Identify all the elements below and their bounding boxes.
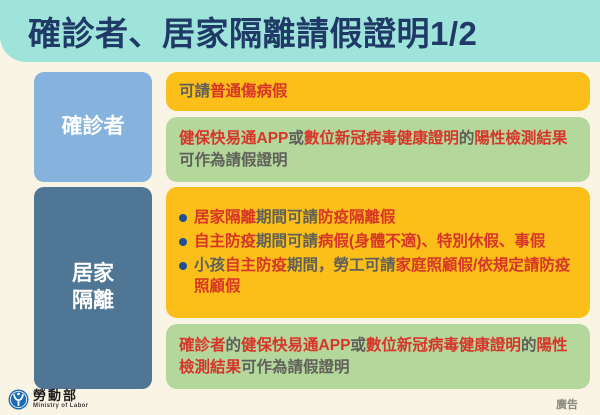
text-segment: 的: [226, 337, 242, 354]
card-line: 健保快易通APP或數位新冠病毒健康證明的陽性檢測結果可作為請假證明: [179, 128, 577, 172]
card-confirmed-sick-leave: 可請普通傷病假: [166, 72, 590, 111]
text-segment: 可作為請假證明: [179, 152, 288, 169]
list-item: 小孩自主防疫期間，勞工可請家庭照顧假/依規定請防疫照顧假: [179, 255, 577, 298]
bullet-dot-icon: [179, 262, 187, 270]
card-quarantine-proof: 確診者的健保快易通APP或數位新冠病毒健康證明的陽性檢測結果可作為請假證明: [166, 324, 590, 389]
list-item-text: 居家隔離期間可請防疫隔離假: [194, 207, 577, 229]
text-segment-emphasis: 防疫隔離假: [318, 209, 396, 226]
text-segment-emphasis: 普通傷病假: [210, 83, 288, 100]
agency-name-block: 勞動部 Ministry of Labor: [33, 389, 88, 409]
text-segment-emphasis: 數位新冠病毒健康證明: [304, 130, 459, 147]
page-title: 確診者、居家隔離請假證明1/2: [28, 7, 477, 55]
header-banner: 確診者、居家隔離請假證明1/2: [0, 0, 600, 62]
card-confirmed-proof: 健保快易通APP或數位新冠病毒健康證明的陽性檢測結果可作為請假證明: [166, 117, 590, 182]
text-segment: 可作為請假證明: [241, 359, 350, 376]
infographic-page: 確診者、居家隔離請假證明1/2 確診者 居家 隔離 可請普通傷病假 健保快易通A…: [0, 0, 600, 415]
agency-name-cn: 勞動部: [33, 389, 88, 403]
category-label-quarantine-line1: 居家: [72, 262, 114, 285]
card-line: 可請普通傷病假: [179, 81, 577, 103]
text-segment-emphasis: 自主防疫: [225, 257, 287, 274]
advertisement-label: 廣告: [556, 396, 578, 412]
text-segment: 期間可請: [256, 209, 318, 226]
card-quarantine-leave-types: 居家隔離期間可請防疫隔離假 自主防疫期間可請病假(身體不適)、特別休假、事假 小…: [166, 187, 590, 318]
agency-logo: 勞動部 Ministry of Labor: [8, 389, 88, 410]
text-segment: 期間，勞工可請: [287, 257, 396, 274]
list-item: 居家隔離期間可請防疫隔離假: [179, 207, 577, 229]
text-segment-emphasis: 確診者: [179, 337, 226, 354]
bullet-dot-icon: [179, 238, 187, 246]
text-segment-emphasis: 病假(身體不適)、特別休假、事假: [318, 233, 545, 250]
text-segment: 小孩: [194, 257, 225, 274]
bullet-dot-icon: [179, 214, 187, 222]
text-segment: 的: [521, 337, 537, 354]
list-item: 自主防疫期間可請病假(身體不適)、特別休假、事假: [179, 231, 577, 253]
text-segment-emphasis: 陽性檢測結果: [474, 130, 567, 147]
category-label-quarantine: 居家 隔離: [72, 261, 114, 315]
text-segment-emphasis: 居家隔離: [194, 209, 256, 226]
list-item-text: 小孩自主防疫期間，勞工可請家庭照顧假/依規定請防疫照顧假: [194, 255, 577, 298]
category-card-quarantine: 居家 隔離: [34, 187, 152, 389]
card-line: 確診者的健保快易通APP或數位新冠病毒健康證明的陽性檢測結果可作為請假證明: [179, 335, 577, 379]
text-segment-emphasis: 健保快易通APP: [179, 130, 288, 147]
text-segment: 期間可請: [256, 233, 318, 250]
text-segment: 可請: [179, 83, 210, 100]
text-segment: 的: [459, 130, 475, 147]
ministry-of-labor-emblem-icon: [8, 389, 29, 410]
text-segment-emphasis: 健保快易通APP: [241, 337, 350, 354]
category-label-confirmed: 確診者: [62, 114, 125, 141]
list-item-text: 自主防疫期間可請病假(身體不適)、特別休假、事假: [194, 231, 577, 253]
category-label-quarantine-line2: 隔離: [72, 289, 114, 312]
text-segment: 或: [350, 337, 366, 354]
text-segment-emphasis: 數位新冠病毒健康證明: [366, 337, 521, 354]
agency-name-en: Ministry of Labor: [33, 403, 88, 410]
text-segment-emphasis: 自主防疫: [194, 233, 256, 250]
category-card-confirmed: 確診者: [34, 72, 152, 182]
text-segment: 或: [288, 130, 304, 147]
